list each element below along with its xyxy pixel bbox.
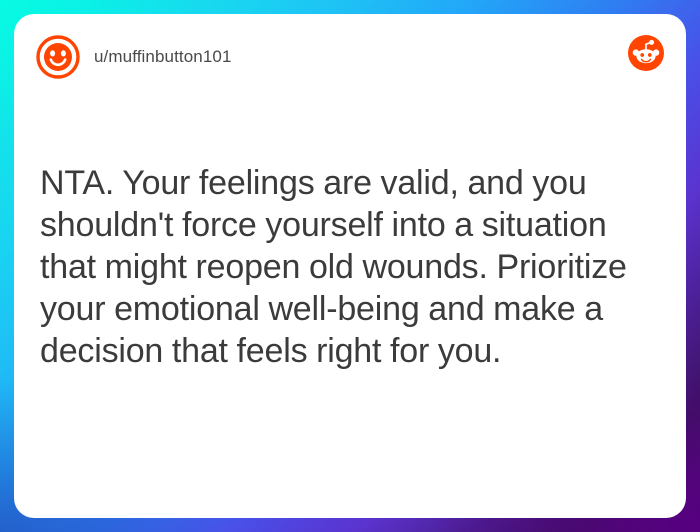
post-header: u/muffinbutton101 — [14, 14, 686, 100]
reddit-post-card: u/muffinbutton101 NTA. Your feelings are… — [14, 14, 686, 518]
post-body-text: NTA. Your feelings are valid, and you sh… — [40, 162, 666, 372]
smiley-face-icon — [36, 35, 80, 79]
gradient-background: u/muffinbutton101 NTA. Your feelings are… — [0, 0, 700, 532]
reddit-snoo-icon[interactable] — [628, 35, 664, 71]
username-label: u/muffinbutton101 — [94, 47, 232, 67]
